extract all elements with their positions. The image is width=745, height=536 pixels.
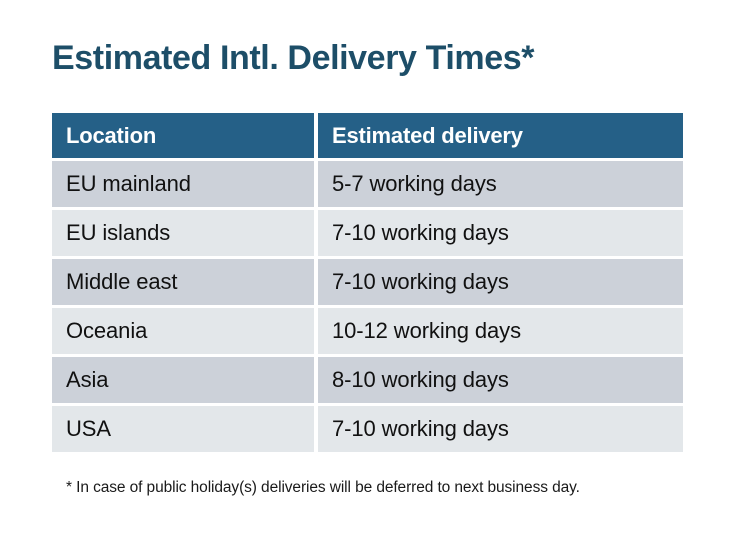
- delivery-times-table: Location Estimated delivery EU mainland …: [48, 110, 687, 455]
- cell-delivery: 10-12 working days: [318, 308, 683, 354]
- cell-delivery: 8-10 working days: [318, 357, 683, 403]
- table-row: Oceania 10-12 working days: [52, 308, 683, 354]
- table-body: EU mainland 5-7 working days EU islands …: [52, 161, 683, 452]
- cell-location: Asia: [52, 357, 314, 403]
- table-header-row: Location Estimated delivery: [52, 113, 683, 158]
- cell-delivery: 7-10 working days: [318, 210, 683, 256]
- table-row: EU mainland 5-7 working days: [52, 161, 683, 207]
- column-header-location: Location: [52, 113, 314, 158]
- cell-delivery: 7-10 working days: [318, 406, 683, 452]
- cell-location: EU islands: [52, 210, 314, 256]
- table-row: Asia 8-10 working days: [52, 357, 683, 403]
- table-header: Location Estimated delivery: [52, 113, 683, 158]
- cell-location: EU mainland: [52, 161, 314, 207]
- footnote-text: * In case of public holiday(s) deliverie…: [66, 478, 580, 498]
- table-row: USA 7-10 working days: [52, 406, 683, 452]
- cell-location: Oceania: [52, 308, 314, 354]
- delivery-times-page: Estimated Intl. Delivery Times* Location…: [0, 0, 745, 536]
- cell-delivery: 7-10 working days: [318, 259, 683, 305]
- column-header-estimated-delivery: Estimated delivery: [318, 113, 683, 158]
- page-title: Estimated Intl. Delivery Times*: [52, 36, 534, 80]
- cell-location: USA: [52, 406, 314, 452]
- table-row: EU islands 7-10 working days: [52, 210, 683, 256]
- cell-location: Middle east: [52, 259, 314, 305]
- cell-delivery: 5-7 working days: [318, 161, 683, 207]
- table-row: Middle east 7-10 working days: [52, 259, 683, 305]
